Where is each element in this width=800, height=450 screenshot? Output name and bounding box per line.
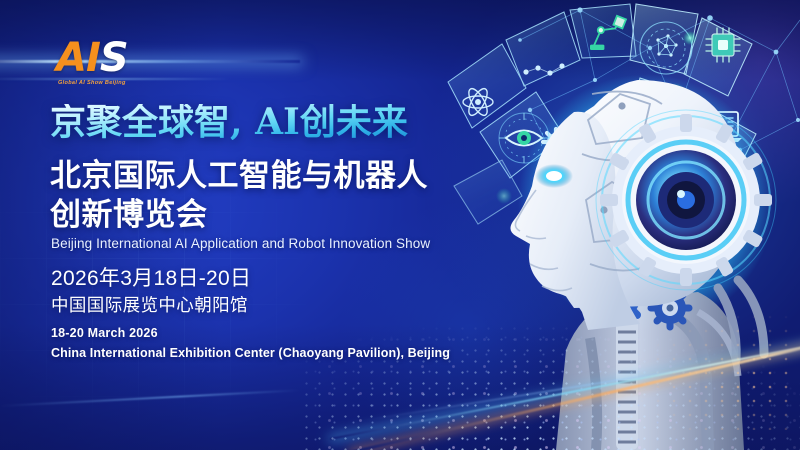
event-title-chinese-line1: 北京国际人工智能与机器人	[50, 158, 428, 193]
event-title-chinese: 北京国际人工智能与机器人创新博览会	[50, 156, 428, 235]
event-title-english: Beijing International AI Application and…	[51, 236, 430, 251]
event-headline: 京聚全球智, AI创未来	[50, 104, 408, 140]
banner-text-content: AIS Global AI Show Beijing 京聚全球智, AI创未来 …	[48, 0, 518, 450]
event-date-english: 18-20 March 2026	[51, 326, 158, 340]
logo-wordmark: AIS	[56, 38, 128, 78]
ais-logo: AIS Global AI Show Beijing	[56, 38, 128, 86]
logo-tagline: Global AI Show Beijing	[58, 80, 128, 86]
logo-text-ai: AI	[56, 35, 100, 81]
event-title-chinese-line2: 创新博览会	[50, 197, 208, 232]
event-banner: AIS Global AI Show Beijing 京聚全球智, AI创未来 …	[0, 0, 800, 450]
logo-text-s: S	[100, 35, 128, 81]
event-venue-chinese: 中国国际展览中心朝阳馆	[51, 292, 248, 317]
event-date-chinese: 2026年3月18日-20日	[51, 262, 251, 292]
event-venue-english: China International Exhibition Center (C…	[51, 346, 450, 360]
